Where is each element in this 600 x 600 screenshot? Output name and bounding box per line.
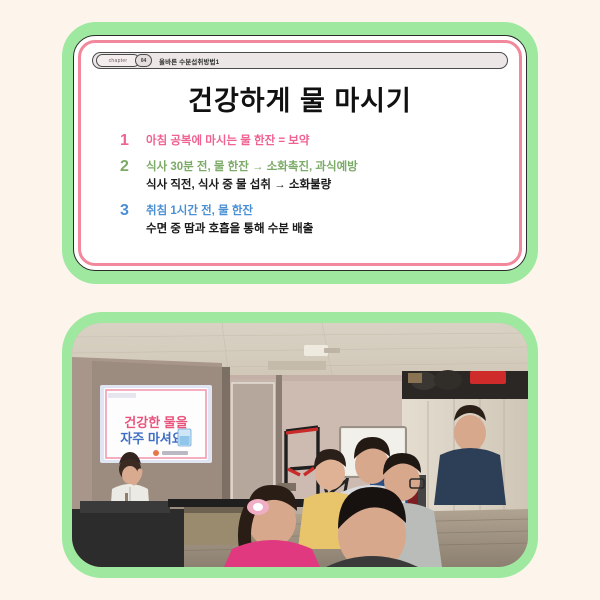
list-item: 2 식사 30분 전, 물 한잔 → 소화촉진, 과식예방 식사 직전, 식사 … (120, 158, 516, 194)
bullet-number: 3 (120, 202, 146, 220)
slide-body: 건강하게 물 마시기 1 아침 공복에 마시는 물 한잔 = 보약 2 식사 3… (84, 76, 516, 260)
bullet-main-text: 취침 1시간 전, 물 한잔 (146, 202, 516, 220)
bullet-text-group: 취침 1시간 전, 물 한잔 수면 중 땀과 호흡을 통해 수분 배출 (146, 202, 516, 238)
bullet-main-text: 식사 30분 전, 물 한잔 → 소화촉진, 과식예방 (146, 158, 516, 176)
slide-card: chapter 04 올바른 수분섭취방법1 건강하게 물 마시기 1 아침 공… (73, 35, 527, 271)
lecture-room-photo: 건강한 물을 자주 마셔요 (72, 323, 528, 567)
bullet-main-text: 아침 공복에 마시는 물 한잔 = 보약 (146, 132, 516, 150)
projected-line-1: 건강한 물을 (124, 415, 187, 430)
chapter-chip: chapter (96, 54, 140, 67)
bullet-text-group: 식사 30분 전, 물 한잔 → 소화촉진, 과식예방 식사 직전, 식사 중 … (146, 158, 516, 194)
bullet-number: 2 (120, 158, 146, 176)
photo-illustration: 건강한 물을 자주 마셔요 (72, 323, 528, 567)
slide-header-title: 올바른 수분섭취방법1 (159, 56, 219, 66)
page-title: 건강하게 물 마시기 (84, 79, 516, 118)
slide-header-bar: chapter 04 올바른 수분섭취방법1 (92, 52, 508, 69)
slide-inner-surface: chapter 04 올바른 수분섭취방법1 건강하게 물 마시기 1 아침 공… (84, 46, 516, 260)
chapter-number-chip: 04 (135, 54, 152, 67)
projected-line-2: 자주 마셔요 (120, 431, 183, 446)
bullet-sub-text: 식사 직전, 식사 중 물 섭취 → 소화불량 (146, 176, 516, 194)
slide-green-frame: chapter 04 올바른 수분섭취방법1 건강하게 물 마시기 1 아침 공… (62, 22, 538, 284)
list-item: 1 아침 공복에 마시는 물 한잔 = 보약 (120, 132, 516, 150)
photo-green-frame: 건강한 물을 자주 마셔요 (62, 312, 538, 578)
list-item: 3 취침 1시간 전, 물 한잔 수면 중 땀과 호흡을 통해 수분 배출 (120, 202, 516, 238)
bullet-text-group: 아침 공복에 마시는 물 한잔 = 보약 (146, 132, 516, 150)
bullet-sub-text: 수면 중 땀과 호흡을 통해 수분 배출 (146, 220, 516, 238)
bullet-number: 1 (120, 132, 146, 150)
bullet-list: 1 아침 공복에 마시는 물 한잔 = 보약 2 식사 30분 전, 물 한잔 … (84, 132, 516, 238)
